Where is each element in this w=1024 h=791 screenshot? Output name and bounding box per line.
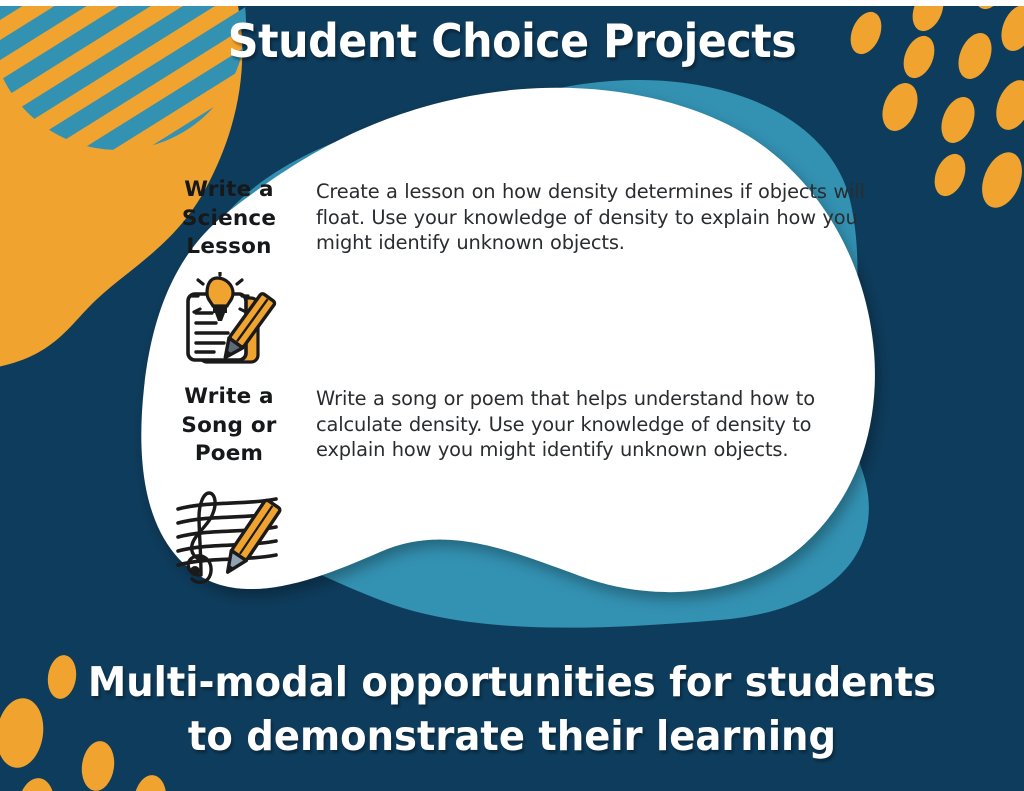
project-options-list: Write a Science Lesson Create a lesson o… bbox=[168, 176, 868, 596]
row-description-song-poem: Write a song or poem that helps understa… bbox=[316, 386, 876, 463]
row-label-line: Lesson bbox=[186, 234, 271, 259]
notepad-lightbulb-pencil-icon bbox=[176, 272, 280, 372]
row-label-song-poem: Write a Song or Poem bbox=[168, 383, 290, 469]
row-label-line: Write a bbox=[184, 177, 274, 202]
page-title: Student Choice Projects bbox=[36, 14, 988, 68]
slide-canvas: Student Choice Projects Write a Science … bbox=[0, 0, 1024, 791]
row-label-line: Science bbox=[182, 206, 276, 231]
caption-line-2: to demonstrate their learning bbox=[31, 709, 994, 763]
slide-caption: Multi-modal opportunities for students t… bbox=[31, 655, 994, 763]
row-label-line: Write a bbox=[184, 384, 274, 409]
row-label-science-lesson: Write a Science Lesson bbox=[168, 176, 290, 262]
caption-line-1: Multi-modal opportunities for students bbox=[31, 655, 994, 709]
row-label-line: Poem bbox=[195, 441, 263, 466]
row-label-line: Song or bbox=[181, 413, 276, 438]
row-description-science-lesson: Create a lesson on how density determine… bbox=[316, 179, 876, 256]
music-staff-pencil-icon bbox=[168, 483, 288, 591]
